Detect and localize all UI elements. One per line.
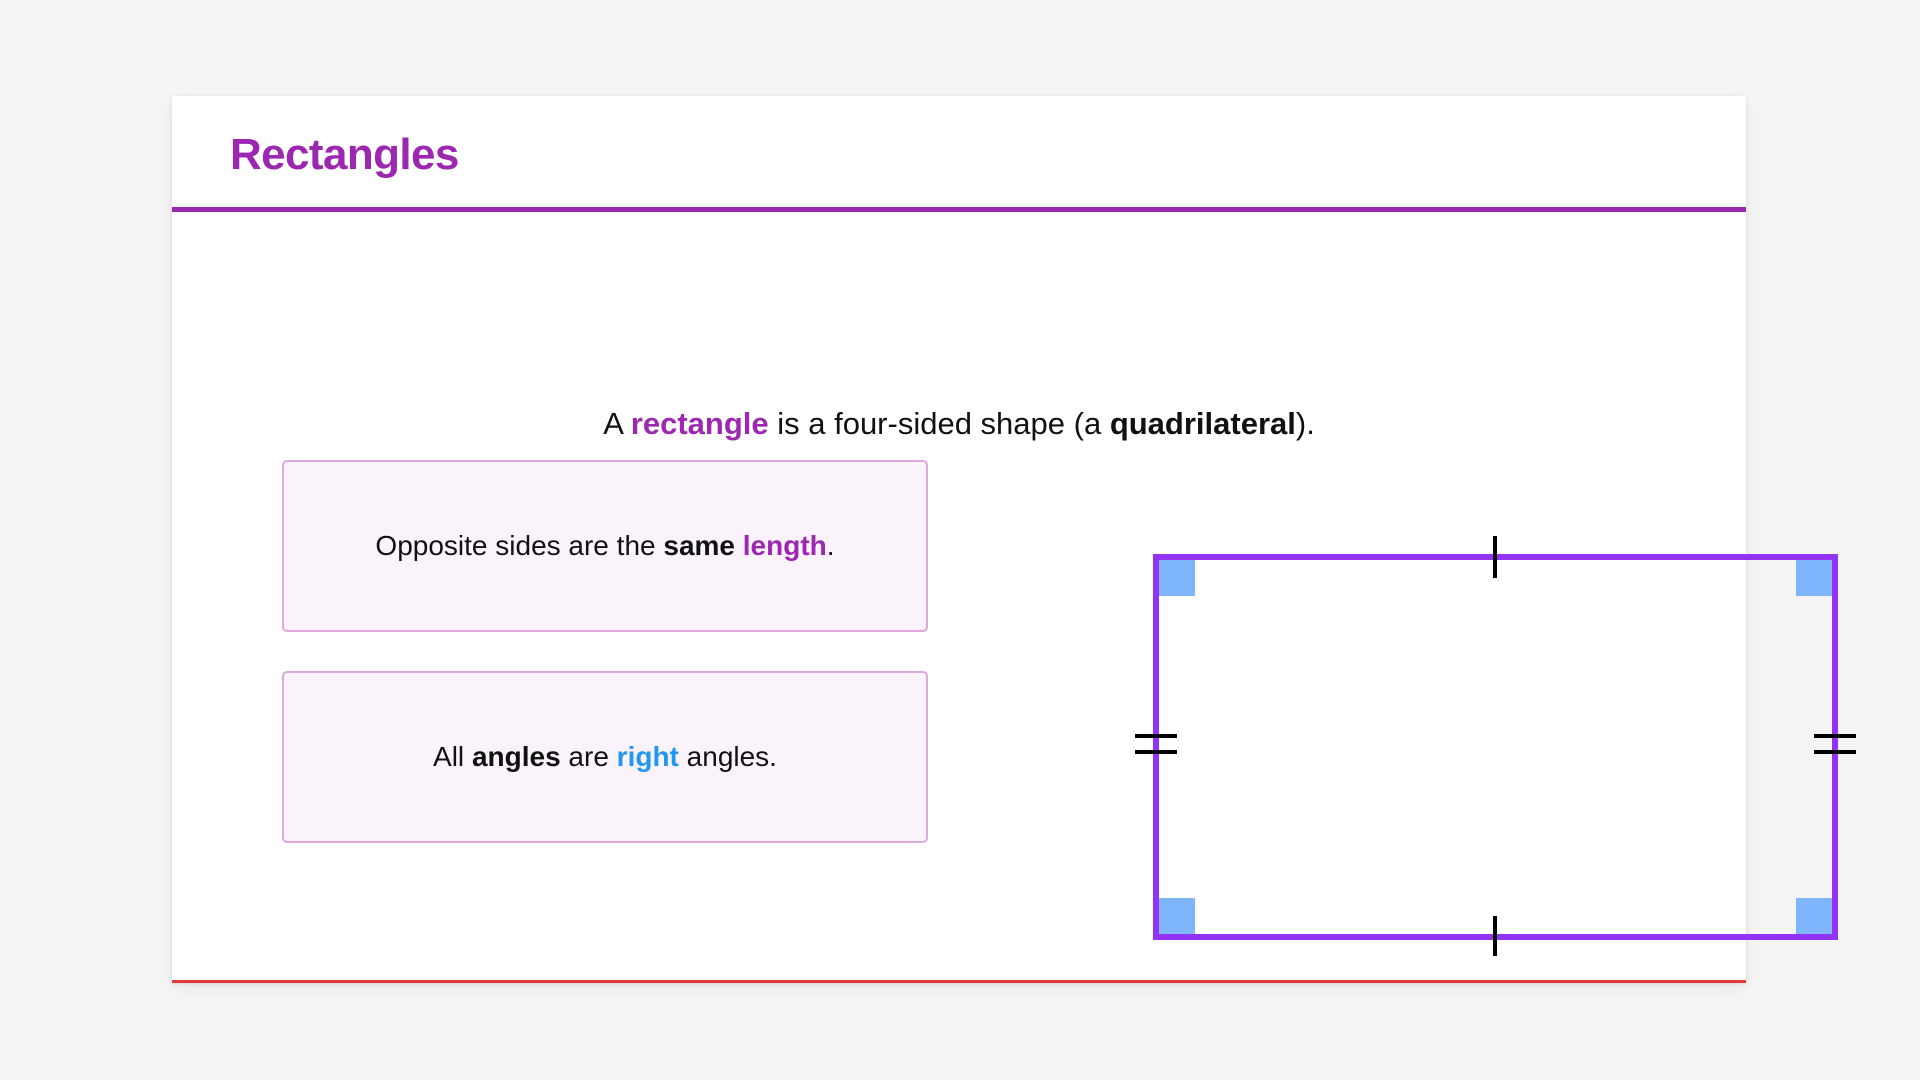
lead-sentence: A rectangle is a four-sided shape (a qua… xyxy=(172,404,1746,444)
fact-keyword-length: length xyxy=(743,530,827,561)
right-angle-marker-top-right xyxy=(1796,560,1832,596)
lead-text-part2: is a four-sided shape (a xyxy=(769,406,1110,441)
right-angle-marker-bottom-left xyxy=(1159,898,1195,934)
fact-card-same-length: Opposite sides are the same length. xyxy=(282,460,928,632)
fact-text-part3: . xyxy=(827,530,835,561)
rectangle-diagram xyxy=(1112,496,1892,956)
fact-card-text: All angles are right angles. xyxy=(433,739,777,775)
fact-text-part3: angles. xyxy=(679,741,777,772)
page-title: Rectangles xyxy=(230,130,459,180)
rectangle-figure-svg xyxy=(1112,496,1892,956)
slide-bottom-rule xyxy=(172,980,1746,983)
fact-card-list: Opposite sides are the same length. All … xyxy=(282,460,928,882)
fact-keyword-angles: angles xyxy=(472,741,561,772)
fact-text-part2: are xyxy=(561,741,617,772)
lead-keyword-rectangle: rectangle xyxy=(631,406,769,441)
slide-header: Rectangles xyxy=(172,96,1746,207)
fact-text-part1: All xyxy=(433,741,472,772)
lead-text-part1: A xyxy=(603,406,631,441)
fact-card-text: Opposite sides are the same length. xyxy=(375,528,834,564)
slide-card: Rectangles A rectangle is a four-sided s… xyxy=(172,96,1746,983)
right-angle-marker-top-left xyxy=(1159,560,1195,596)
fact-keyword-right: right xyxy=(617,741,679,772)
header-divider xyxy=(172,207,1746,212)
lead-text-part3: ). xyxy=(1296,406,1315,441)
fact-text-part2 xyxy=(735,530,743,561)
right-angle-marker-bottom-right xyxy=(1796,898,1832,934)
fact-card-right-angles: All angles are right angles. xyxy=(282,671,928,843)
rectangle-outline xyxy=(1156,557,1835,937)
fact-text-part1: Opposite sides are the xyxy=(375,530,663,561)
lead-keyword-quadrilateral: quadrilateral xyxy=(1110,406,1296,441)
fact-keyword-same: same xyxy=(663,530,735,561)
